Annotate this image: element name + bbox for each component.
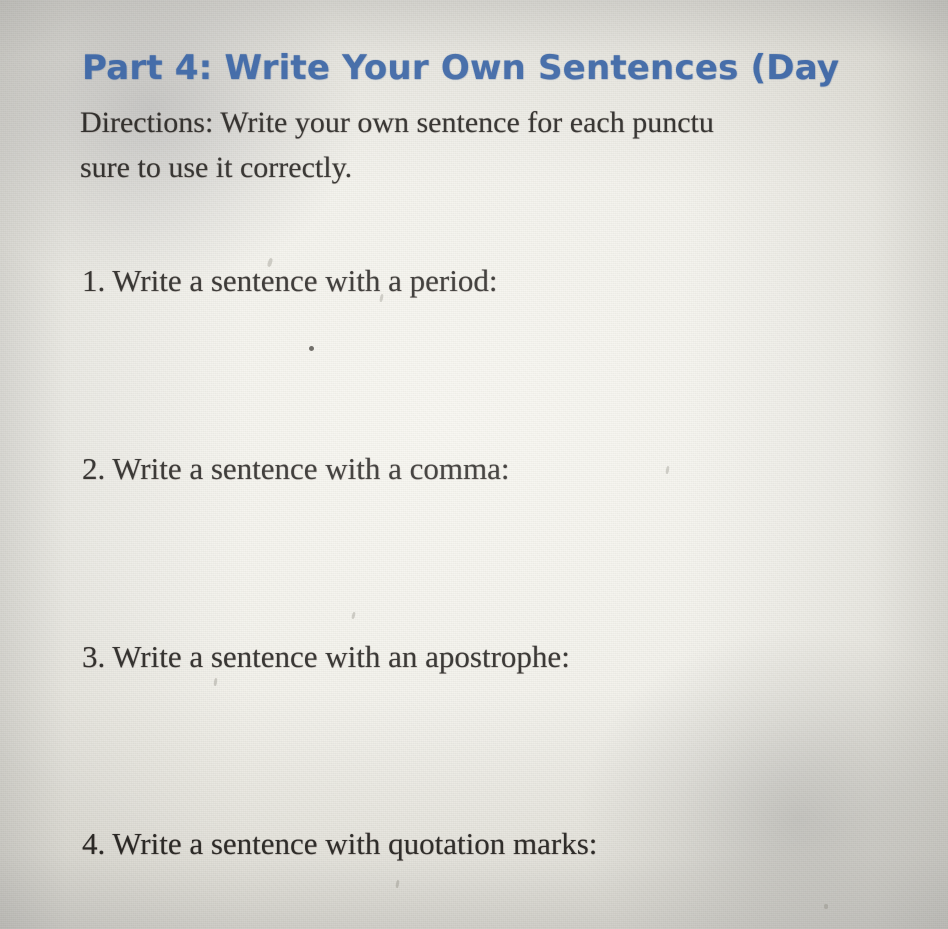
paper-fiber-mark bbox=[395, 880, 399, 888]
worksheet-page: Part 4: Write Your Own Sentences (Day Di… bbox=[0, 0, 948, 929]
directions-block: Directions: Write your own sentence for … bbox=[80, 100, 948, 190]
directions-line-1: Directions: Write your own sentence for … bbox=[80, 100, 948, 145]
prompt-text-3: Write a sentence with an apostrophe: bbox=[112, 639, 570, 674]
prompt-item-2: 2.Write a sentence with a comma: bbox=[82, 450, 510, 488]
section-heading: Part 4: Write Your Own Sentences (Day bbox=[82, 46, 948, 90]
worksheet-content: Part 4: Write Your Own Sentences (Day Di… bbox=[0, 0, 948, 929]
paper-fiber-mark bbox=[351, 612, 356, 620]
prompt-number-2: 2. bbox=[82, 451, 105, 486]
prompt-number-3: 3. bbox=[82, 639, 105, 674]
prompt-item-4: 4.Write a sentence with quotation marks: bbox=[82, 825, 597, 863]
prompt-item-1: 1.Write a sentence with a period: bbox=[82, 262, 497, 300]
prompt-text-4: Write a sentence with quotation marks: bbox=[112, 826, 597, 861]
paper-fiber-mark bbox=[665, 466, 669, 474]
prompt-number-4: 4. bbox=[82, 826, 105, 861]
prompt-item-3: 3.Write a sentence with an apostrophe: bbox=[82, 638, 570, 676]
paper-fiber-mark bbox=[213, 678, 217, 686]
prompt-text-1: Write a sentence with a period: bbox=[112, 263, 497, 298]
paper-fiber-mark bbox=[824, 904, 828, 909]
prompt-text-2: Write a sentence with a comma: bbox=[112, 451, 509, 486]
paper-speck bbox=[309, 346, 314, 351]
prompt-number-1: 1. bbox=[82, 263, 105, 298]
directions-line-2: sure to use it correctly. bbox=[80, 145, 948, 190]
